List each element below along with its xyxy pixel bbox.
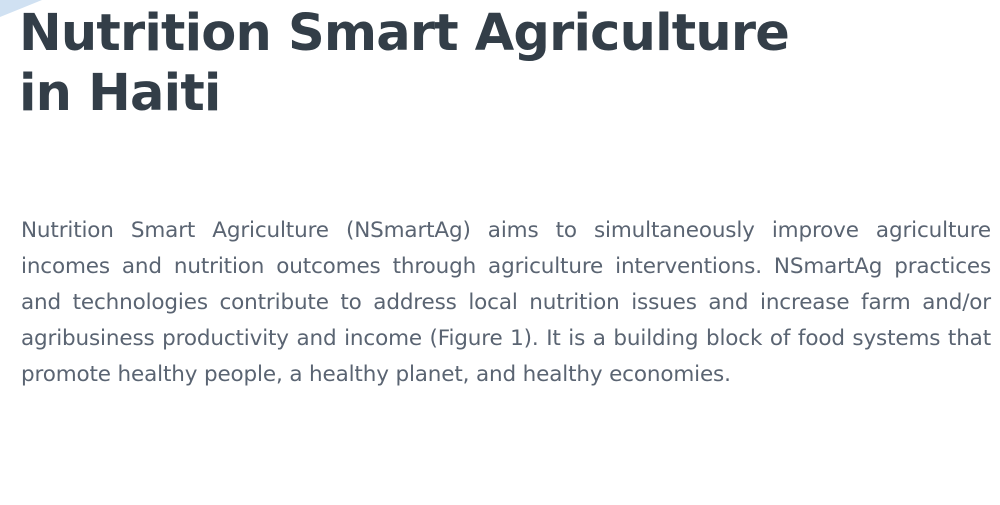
document-page: Nutrition Smart Agriculture in Haiti Nut…: [0, 0, 1000, 505]
body-paragraph: Nutrition Smart Agriculture (NSmartAg) a…: [21, 213, 991, 393]
page-title: Nutrition Smart Agriculture in Haiti: [19, 4, 979, 123]
